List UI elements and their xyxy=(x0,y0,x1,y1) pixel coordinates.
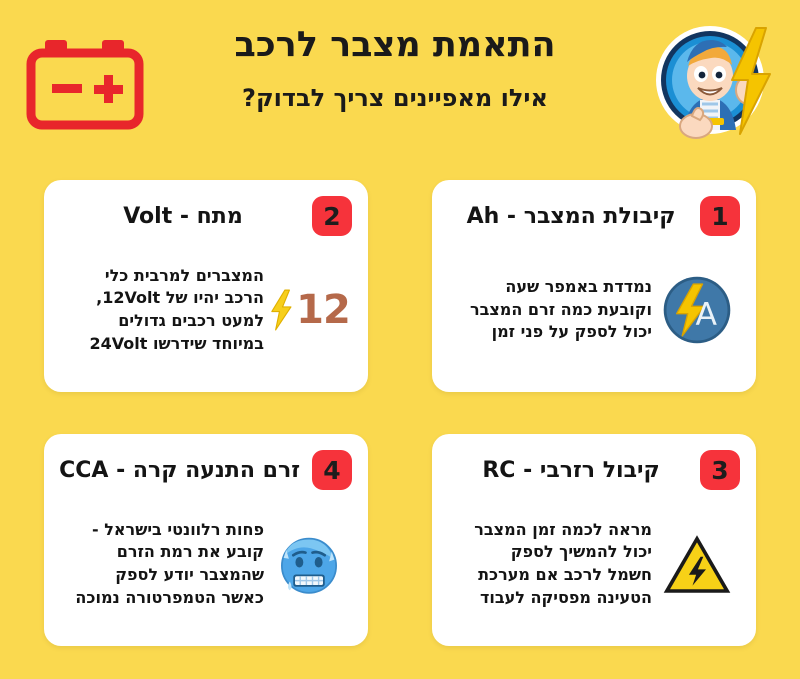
header-text-block: התאמת מצבר לרכב אילו מאפיינים צריך לבדוק… xyxy=(160,26,630,111)
car-battery-icon xyxy=(26,38,144,130)
card-line: למעט רכבים גדולים xyxy=(60,310,264,333)
card-line: חשמל לרכב אם מערכת xyxy=(448,564,652,587)
card-title: זרם התנעה קרה - CCA xyxy=(53,458,300,483)
card-header: 4 זרם התנעה קרה - CCA xyxy=(60,448,352,492)
card-line: קובע את רמת הזרם xyxy=(60,541,264,564)
card-line: במיוחד שידרשו 24Volt xyxy=(60,333,264,356)
card-body: פחות רלוונטי בישראל - קובע את רמת הזרם ש… xyxy=(60,498,352,630)
page-title: התאמת מצבר לרכב xyxy=(160,26,630,65)
card-line: וקובעת כמה זרם המצבר xyxy=(448,299,652,322)
card-line: נמדדת באמפר שעה xyxy=(448,276,652,299)
electrician-mascot-logo xyxy=(648,18,788,144)
card-description: המצברים למרבית כלי הרכב יהיו של 12Volt, … xyxy=(60,265,266,356)
page-subtitle: אילו מאפיינים צריך לבדוק? xyxy=(160,85,630,111)
card-header: 1 קיבולת המצבר - Ah xyxy=(448,194,740,238)
card-line: יכול להמשיך לספק xyxy=(448,541,652,564)
card-title: קיבולת המצבר - Ah xyxy=(448,204,688,229)
card-body: 12 המצברים למרבית כלי הרכב יהיו של 12Vol… xyxy=(60,244,352,376)
card-line: המצברים למרבית כלי xyxy=(60,265,264,288)
card-rc-reserve-capacity[interactable]: 3 קיבול רזרבי - RC מראה לכמה זמן המצבר י… xyxy=(432,434,756,646)
cold-face-emoji-icon xyxy=(266,521,352,607)
twelve-label: 12 xyxy=(296,290,350,330)
card-title: מתח - Volt xyxy=(60,204,300,229)
card-header: 2 מתח - Volt xyxy=(60,194,352,238)
card-description: נמדדת באמפר שעה וקובעת כמה זרם המצבר יכו… xyxy=(448,276,654,344)
card-line: הרכב יהיו של 12Volt, xyxy=(60,287,264,310)
card-number-badge: 3 xyxy=(700,450,740,490)
card-line: הטעינה מפסיקה לעבוד xyxy=(448,587,652,610)
card-number-badge: 4 xyxy=(312,450,352,490)
svg-text:A: A xyxy=(695,297,717,333)
card-line: פחות רלוונטי בישראל - xyxy=(60,519,264,542)
electric-hazard-triangle-icon xyxy=(654,521,740,607)
card-line: כאשר הטמפרטורה נמוכה xyxy=(60,587,264,610)
card-volt-voltage[interactable]: 2 מתח - Volt 12 המצברים למרבית כלי הרכב … xyxy=(44,180,368,392)
card-number-badge: 1 xyxy=(700,196,740,236)
card-number-badge: 2 xyxy=(312,196,352,236)
card-title: קיבול רזרבי - RC xyxy=(448,458,688,483)
card-cca-cold-cranking[interactable]: 4 זרם התנעה קרה - CCA xyxy=(44,434,368,646)
card-description: פחות רלוונטי בישראל - קובע את רמת הזרם ש… xyxy=(60,519,266,610)
card-line: שהמצבר יודע לספק xyxy=(60,564,264,587)
card-line: מראה לכמה זמן המצבר xyxy=(448,519,652,542)
card-body: A נמדדת באמפר שעה וקובעת כמה זרם המצבר י… xyxy=(448,244,740,376)
twelve-volt-lightning-icon: 12 xyxy=(266,267,352,353)
feature-card-grid: 1 קיבולת המצבר - Ah A נמדדת באמפר שעה וק… xyxy=(44,180,756,646)
ah-lightning-circle-icon: A xyxy=(654,267,740,353)
card-line: יכול לספק על פני זמן xyxy=(448,321,652,344)
card-description: מראה לכמה זמן המצבר יכול להמשיך לספק חשמ… xyxy=(448,519,654,610)
card-ah-capacity[interactable]: 1 קיבולת המצבר - Ah A נמדדת באמפר שעה וק… xyxy=(432,180,756,392)
header-banner: התאמת מצבר לרכב אילו מאפיינים צריך לבדוק… xyxy=(0,0,800,160)
card-header: 3 קיבול רזרבי - RC xyxy=(448,448,740,492)
card-body: מראה לכמה זמן המצבר יכול להמשיך לספק חשמ… xyxy=(448,498,740,630)
